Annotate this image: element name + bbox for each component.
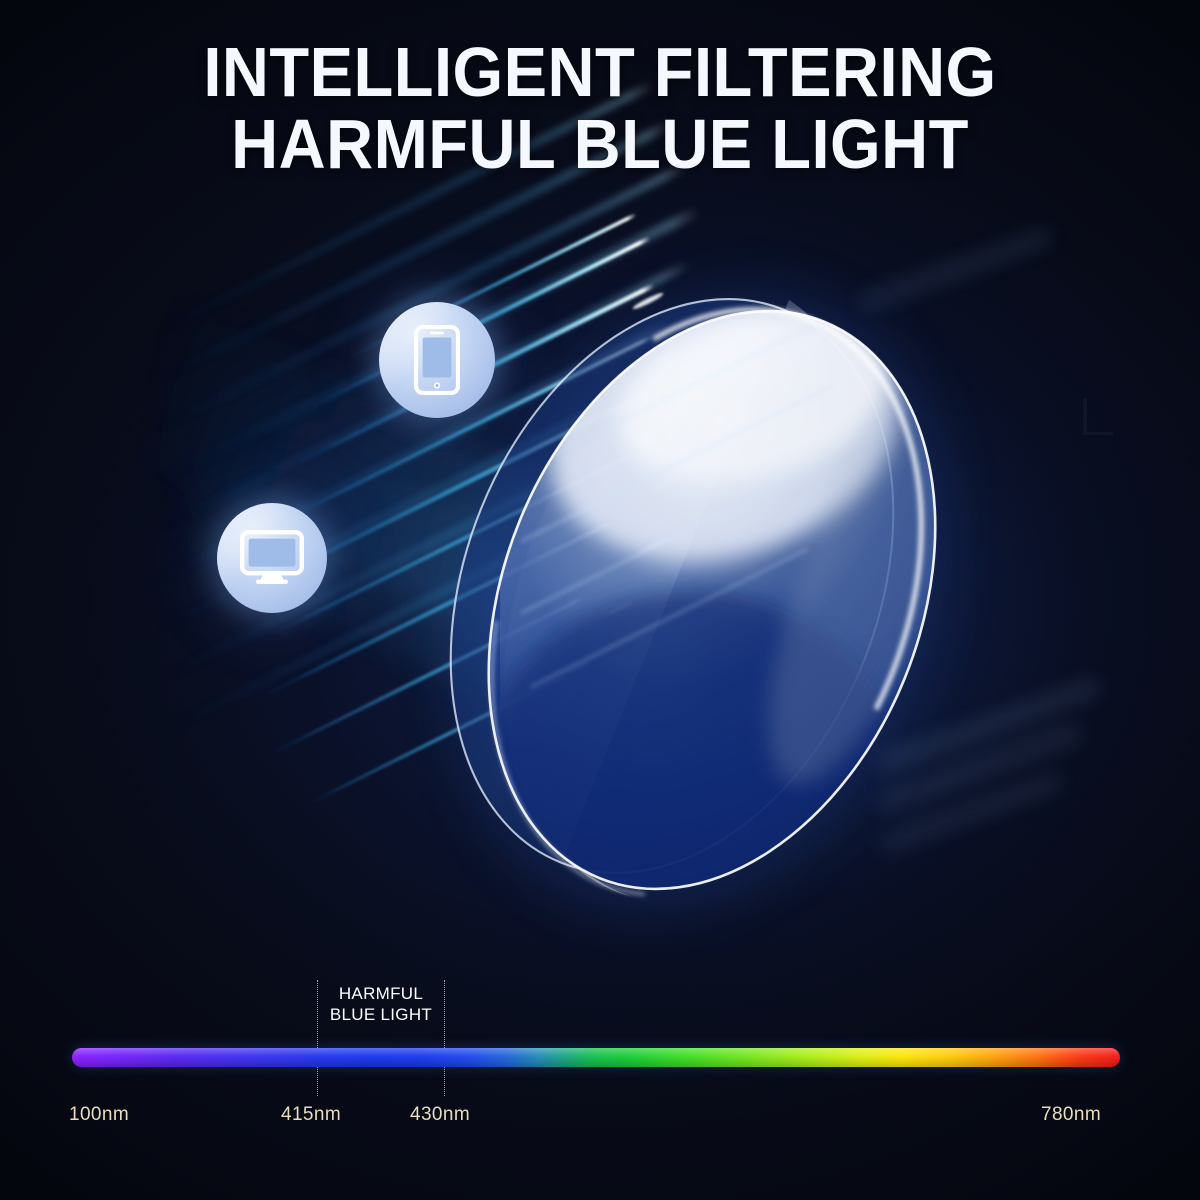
smartphone-icon bbox=[414, 325, 460, 395]
page-title: INTELLIGENT FILTERING HARMFUL BLUE LIGHT bbox=[0, 36, 1200, 180]
guide-line-430nm bbox=[444, 980, 445, 1096]
tick-label-415nm: 415nm bbox=[281, 1104, 341, 1126]
band-label-line-2: BLUE LIGHT bbox=[312, 1004, 450, 1025]
tick-label-780nm: 780nm bbox=[1041, 1104, 1101, 1126]
monitor-icon-badge[interactable] bbox=[217, 503, 327, 613]
guide-line-415nm bbox=[317, 980, 318, 1096]
tick-label-430nm: 430nm bbox=[410, 1104, 470, 1126]
tick-label-100nm: 100nm bbox=[69, 1104, 129, 1126]
title-line-1: INTELLIGENT FILTERING bbox=[42, 36, 1158, 108]
smartphone-icon-badge[interactable] bbox=[379, 302, 495, 418]
band-label-line-1: HARMFUL bbox=[312, 983, 450, 1004]
spectrum-gradient-bar bbox=[72, 1048, 1120, 1067]
harmful-blue-light-label: HARMFUL BLUE LIGHT bbox=[312, 983, 450, 1025]
promo-graphic: INTELLIGENT FILTERING HARMFUL BLUE LIGHT… bbox=[0, 0, 1200, 1200]
spectrum-chart: HARMFUL BLUE LIGHT 100nm 415nm 430nm 780… bbox=[0, 970, 1200, 1170]
title-line-2: HARMFUL BLUE LIGHT bbox=[42, 108, 1158, 180]
monitor-icon bbox=[240, 530, 304, 586]
